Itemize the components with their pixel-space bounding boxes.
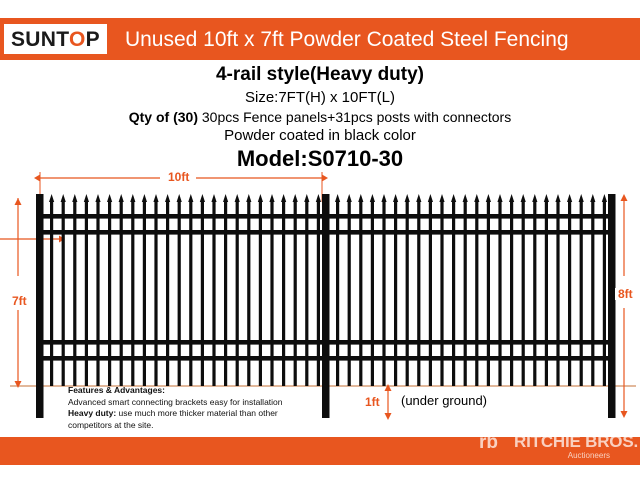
spec-coating-line: Powder coated in black color — [0, 127, 640, 144]
underground-dimension-label: 1ft — [362, 396, 383, 408]
suntop-logo-text: SUNTOP — [11, 29, 100, 50]
spec-size-line: Size:7FT(H) x 10FT(L) — [0, 89, 640, 106]
spec-qty-line: Qty of (30) 30pcs Fence panels+31pcs pos… — [0, 109, 640, 125]
spec-qty-bold: Qty of (30) — [129, 109, 198, 125]
watermark-tagline: Auctioneers — [514, 452, 610, 460]
features-line-3: competitors at the site. — [68, 420, 330, 432]
fence-panel-left — [40, 194, 325, 386]
features-line-2: Heavy duty: use much more thicker materi… — [68, 408, 330, 420]
rail-top-1 — [40, 214, 325, 219]
right-height-dimension — [621, 194, 628, 418]
top-white-strip — [0, 0, 640, 18]
spec-text-block: 4-rail style(Heavy duty) Size:7FT(H) x 1… — [0, 60, 640, 172]
right-height-dimension-label: 8ft — [615, 288, 636, 300]
rail-top-2 — [40, 230, 325, 235]
features-line-2-rest: use much more thicker material than othe… — [116, 408, 278, 418]
underground-dimension — [385, 384, 392, 420]
header-title: Unused 10ft x 7ft Powder Coated Steel Fe… — [125, 29, 569, 50]
ritchie-bros-watermark: RITCHIE BROS. Auctioneers — [514, 437, 638, 460]
features-line-2-bold: Heavy duty: — [68, 408, 116, 418]
spec-style-line: 4-rail style(Heavy duty) — [0, 64, 640, 86]
rail-bottom-2 — [40, 356, 325, 361]
post-left — [36, 194, 44, 418]
bottom-orange-band: rb RITCHIE BROS. Auctioneers — [0, 437, 640, 465]
logo-suffix: P — [86, 28, 100, 51]
suntop-logo: SUNTOP — [4, 24, 107, 54]
watermark-brand: RITCHIE BROS. — [514, 437, 638, 450]
logo-accent-letter: O — [69, 28, 86, 51]
product-image-canvas: SUNTOP Unused 10ft x 7ft Powder Coated S… — [0, 0, 640, 480]
underground-note: (under ground) — [398, 394, 490, 407]
left-height-dimension-label: 7ft — [9, 295, 30, 307]
rail-bottom-1 — [40, 340, 325, 345]
features-heading: Features & Advantages: — [68, 385, 330, 397]
ritchie-bros-mark-icon: rb — [479, 437, 498, 452]
width-dimension-label: 10ft — [165, 171, 192, 183]
header-bar: SUNTOP Unused 10ft x 7ft Powder Coated S… — [0, 18, 640, 60]
bottom-white-strip — [0, 465, 640, 480]
features-line-1: Advanced smart connecting brackets easy … — [68, 397, 330, 409]
spec-qty-rest: 30pcs Fence panels+31pcs posts with conn… — [198, 109, 511, 125]
post-right — [608, 194, 616, 418]
fence-panel-right — [326, 194, 611, 386]
features-block: Features & Advantages: Advanced smart co… — [68, 385, 330, 432]
logo-prefix: SUNT — [11, 28, 69, 51]
